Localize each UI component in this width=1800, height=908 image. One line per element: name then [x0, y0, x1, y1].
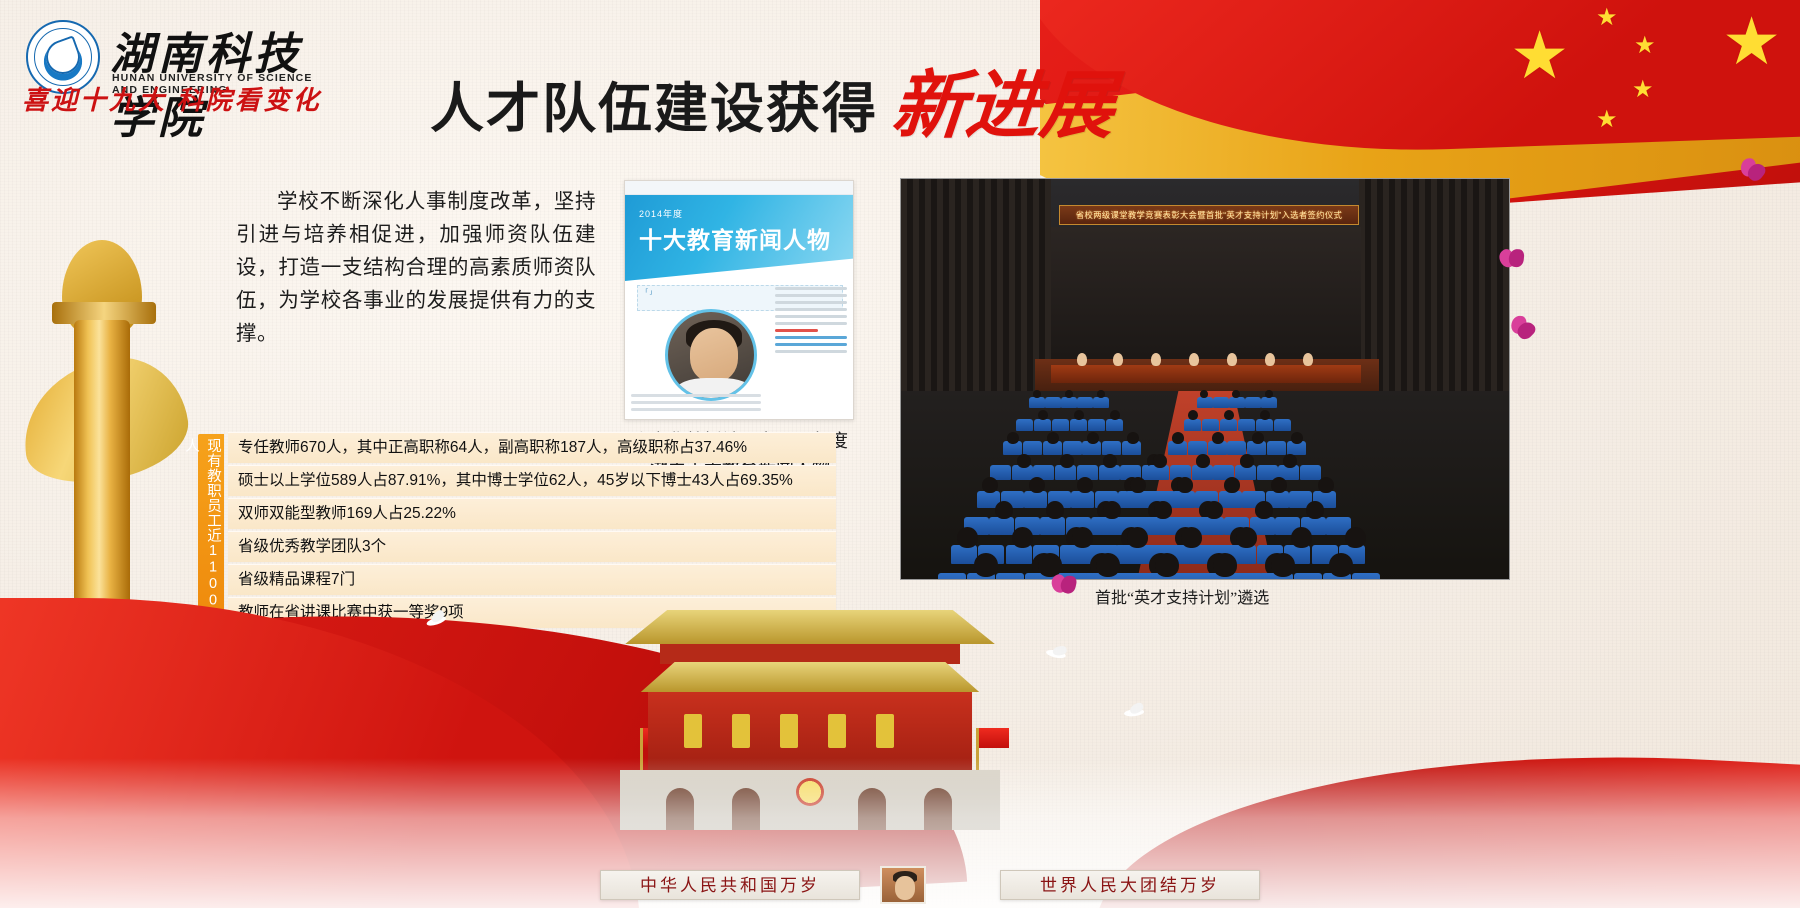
- huabiao-pillar-decoration: [12, 240, 202, 660]
- flag-star-extra-icon: ★: [1722, 8, 1781, 74]
- page-title: 人才队伍建设获得 新进展: [430, 66, 1114, 136]
- stats-row: 省级优秀教学团队3个: [228, 531, 836, 562]
- clipping-year: 2014年度: [639, 207, 683, 220]
- footer-slogan-right: 世界人民大团结万岁: [1000, 870, 1260, 900]
- mao-portrait: [880, 866, 926, 904]
- flag-star-small-4-icon: ★: [1596, 108, 1618, 132]
- butterfly-decoration-3-icon: [1051, 572, 1080, 597]
- news-clipping-thumbnail: 2014年度 十大教育新闻人物 「 」: [624, 180, 854, 420]
- footer-slogan-left: 中华人民共和国万岁: [600, 870, 860, 900]
- ceremony-photograph: 省校两级课堂教学竞赛表彰大会暨首批“英才支持计划”入选者签约仪式: [900, 178, 1510, 580]
- clipping-portrait: [665, 309, 757, 401]
- stats-row: 专任教师670人，其中正高职称64人，副高职称187人，高级职称占37.46%: [228, 432, 836, 463]
- stats-row: 双师双能型教师169人占25.22%: [228, 498, 836, 529]
- stage-banner-text: 省校两级课堂教学竞赛表彰大会暨首批“英才支持计划”入选者签约仪式: [1059, 205, 1359, 225]
- stats-vertical-label: 现有教职员工近1100人: [198, 434, 224, 614]
- flag-star-large-icon: ★: [1510, 22, 1569, 88]
- footer-scene: 中华人民共和国万岁 世界人民大团结万岁: [0, 608, 1800, 908]
- stats-row: 省级精品课程7门: [228, 564, 836, 595]
- dove-icon-3: [1123, 703, 1149, 721]
- stats-list: 专任教师670人，其中正高职称64人，副高职称187人，高级职称占37.46% …: [228, 432, 836, 630]
- intro-paragraph: 学校不断深化人事制度改革，坚持引进与培养相促进，加强师资队伍建设，打造一支结构合…: [236, 186, 596, 351]
- photo-caption: 首批“英才支持计划”遴选: [1095, 584, 1415, 608]
- clipping-headline: 十大教育新闻人物: [639, 221, 831, 255]
- flag-star-small-3-icon: ★: [1632, 78, 1654, 102]
- flag-star-small-1-icon: ★: [1596, 6, 1618, 30]
- flag-star-small-2-icon: ★: [1634, 34, 1656, 58]
- stats-row: 硕士以上学位589人占87.91%，其中博士学位62人，45岁以下博士43人占6…: [228, 465, 836, 496]
- campaign-slogan: 喜迎十九大 科院看变化: [22, 80, 322, 117]
- dove-icon-2: [1045, 644, 1072, 665]
- poster-canvas: ★ ★ ★ ★ ★ ★ 湖南科技学院 HUNAN UNIVERSITY OF S…: [0, 0, 1800, 908]
- page-title-red: 新进展: [889, 72, 1117, 142]
- page-title-black: 人才队伍建设获得: [430, 82, 878, 136]
- butterfly-decoration-2-icon: [1507, 314, 1540, 345]
